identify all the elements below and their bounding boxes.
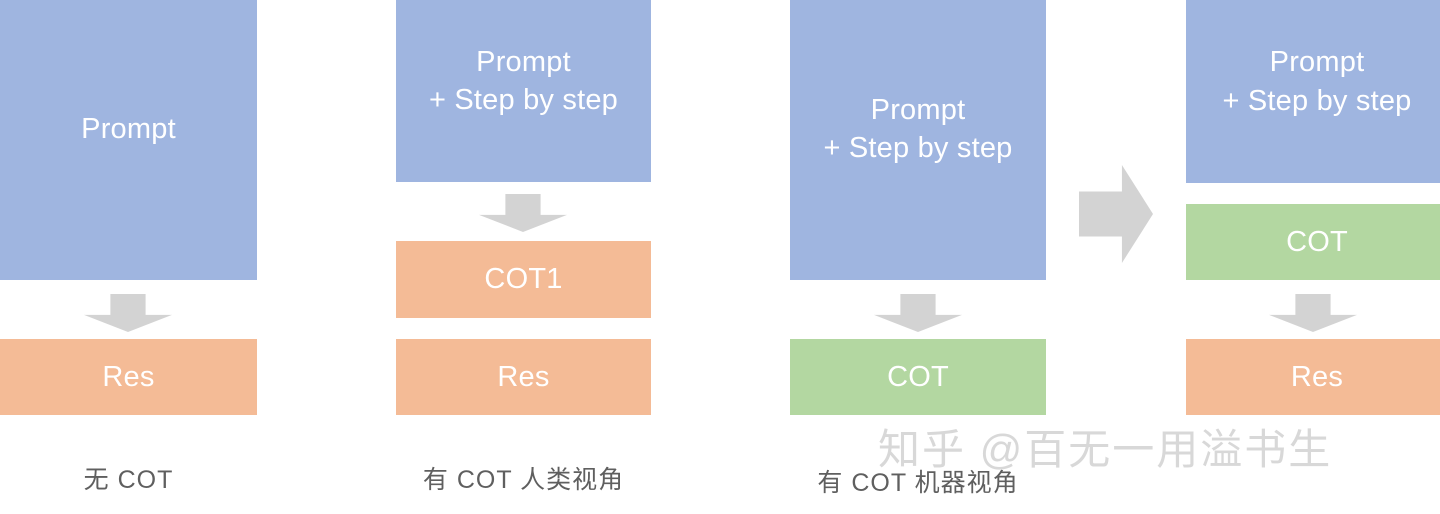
- box-prompt-col4: Prompt + Step by step: [1186, 0, 1440, 183]
- box-cot-col3: COT: [790, 339, 1046, 415]
- box-prompt-col1: Prompt: [0, 0, 257, 280]
- arrow-down-col1: [84, 294, 172, 332]
- box-label: Prompt: [0, 110, 257, 148]
- caption-text: 无 COT: [84, 466, 174, 494]
- box-prompt-col3: Prompt + Step by step: [790, 0, 1046, 280]
- box-label: Res: [0, 358, 257, 396]
- box-label: Prompt + Step by step: [790, 91, 1046, 168]
- box-label: Res: [396, 358, 651, 396]
- box-label: COT1: [396, 260, 651, 298]
- caption-text: 有 COT 人类视角: [423, 466, 624, 494]
- caption-col3: 有 COT 机器视角: [790, 463, 1046, 499]
- box-label: COT: [790, 358, 1046, 396]
- arrow-down-col4: [1269, 294, 1357, 332]
- diagram-canvas: Prompt Res 无 COT Prompt + Step by step C…: [0, 0, 1440, 514]
- caption-text: 有 COT 机器视角: [817, 469, 1018, 497]
- box-cot1-col2: COT1: [396, 241, 651, 318]
- box-res-col4: Res: [1186, 339, 1440, 415]
- arrow-down-col2: [479, 194, 567, 232]
- caption-col2: 有 COT 人类视角: [396, 460, 651, 496]
- box-res-col1: Res: [0, 339, 257, 415]
- box-cot-col4: COT: [1186, 204, 1440, 280]
- box-label: Prompt + Step by step: [396, 43, 651, 120]
- box-label: Prompt + Step by step: [1186, 43, 1440, 120]
- caption-col1: 无 COT: [0, 460, 257, 496]
- arrow-down-col3: [874, 294, 962, 332]
- box-label: COT: [1186, 223, 1440, 261]
- box-label: Res: [1186, 358, 1440, 396]
- box-prompt-col2: Prompt + Step by step: [396, 0, 651, 182]
- right-arrow-transition: [1079, 165, 1153, 263]
- box-res-col2: Res: [396, 339, 651, 415]
